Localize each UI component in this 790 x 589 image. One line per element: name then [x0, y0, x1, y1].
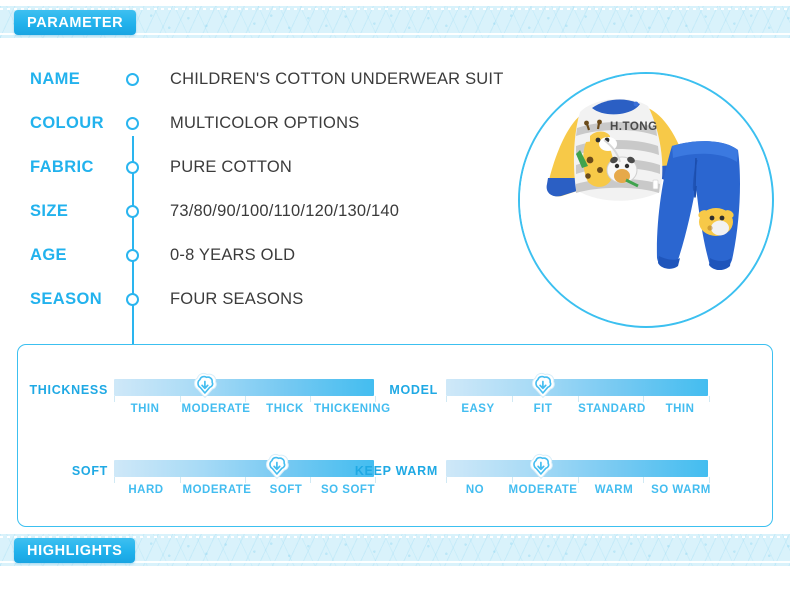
- scale-item[interactable]: THICK: [256, 403, 314, 415]
- scale-item[interactable]: FIT: [510, 403, 576, 415]
- scale-item[interactable]: EASY: [446, 403, 510, 415]
- spec-value-season: FOUR SEASONS: [170, 290, 304, 309]
- spec-row-size: SIZE 73/80/90/100/110/120/130/140: [0, 200, 520, 222]
- slider-track-keep-warm[interactable]: [446, 460, 708, 477]
- scale-item[interactable]: THIN: [648, 403, 712, 415]
- slider-thumb-model[interactable]: [531, 372, 556, 398]
- scale-item[interactable]: STANDARD: [576, 403, 648, 415]
- slider-scale-keep-warm: NO MODERATE WARM SO WARM: [446, 484, 716, 496]
- scale-item[interactable]: MODERATE: [176, 403, 256, 415]
- scale-item[interactable]: MODERATE: [504, 484, 582, 496]
- highlights-section-banner: HIGHLIGHTS: [0, 534, 790, 566]
- timeline-dot-icon: [126, 205, 139, 218]
- slider-ticks-soft: [114, 477, 376, 483]
- spec-row-age: AGE 0-8 YEARS OLD: [0, 244, 520, 266]
- spec-label-fabric: FABRIC: [30, 158, 126, 177]
- scale-item[interactable]: MODERATE: [178, 484, 256, 496]
- spec-value-colour: MULTICOLOR OPTIONS: [170, 114, 359, 133]
- scale-item[interactable]: THIN: [114, 403, 176, 415]
- spec-label-colour: COLOUR: [30, 114, 126, 133]
- slider-ticks-thickness: [114, 396, 376, 402]
- scale-item[interactable]: WARM: [582, 484, 646, 496]
- spec-row-name: NAME CHILDREN'S COTTON UNDERWEAR SUIT: [0, 68, 520, 90]
- spec-value-age: 0-8 YEARS OLD: [170, 246, 295, 265]
- scale-item[interactable]: SO SOFT: [316, 484, 380, 496]
- slider-thumb-soft[interactable]: [265, 453, 290, 479]
- slider-label-model: MODEL: [358, 383, 438, 397]
- slider-thumb-thickness[interactable]: [193, 372, 218, 398]
- slider-ticks-model: [446, 396, 710, 402]
- spec-row-fabric: FABRIC PURE COTTON: [0, 156, 520, 178]
- spec-label-size: SIZE: [30, 202, 126, 221]
- product-photo-illustration: H.TONG: [520, 74, 768, 322]
- scale-item[interactable]: NO: [446, 484, 504, 496]
- scale-item[interactable]: THICKENING: [314, 403, 390, 415]
- timeline-dot-icon: [126, 249, 139, 262]
- slider-track-thickness[interactable]: [114, 379, 374, 396]
- highlights-banner-label: HIGHLIGHTS: [14, 538, 135, 563]
- slider-label-keep-warm: KEEP WARM: [348, 464, 438, 478]
- product-photo: H.TONG: [518, 72, 774, 328]
- scale-item[interactable]: HARD: [114, 484, 178, 496]
- spec-value-name: CHILDREN'S COTTON UNDERWEAR SUIT: [170, 70, 503, 89]
- spec-label-season: SEASON: [30, 290, 126, 309]
- slider-scale-model: EASY FIT STANDARD THIN: [446, 403, 712, 415]
- specification-list: NAME CHILDREN'S COTTON UNDERWEAR SUIT CO…: [0, 52, 520, 322]
- timeline-dot-icon: [126, 161, 139, 174]
- svg-text:H.TONG: H.TONG: [610, 121, 658, 133]
- parameter-section-banner: PARAMETER: [0, 6, 790, 38]
- timeline-dot-icon: [126, 117, 139, 130]
- slider-scale-soft: HARD MODERATE SOFT SO SOFT: [114, 484, 380, 496]
- slider-thumb-keep-warm[interactable]: [529, 453, 554, 479]
- spec-row-season: SEASON FOUR SEASONS: [0, 288, 520, 310]
- slider-ticks-keep-warm: [446, 477, 710, 483]
- spec-label-age: AGE: [30, 246, 126, 265]
- timeline-dot-icon: [126, 73, 139, 86]
- spec-label-name: NAME: [30, 70, 126, 89]
- parameter-banner-label: PARAMETER: [14, 10, 136, 35]
- slider-label-thickness: THICKNESS: [24, 383, 108, 397]
- spec-row-colour: COLOUR MULTICOLOR OPTIONS: [0, 112, 520, 134]
- spec-value-size: 73/80/90/100/110/120/130/140: [170, 202, 399, 221]
- attribute-slider-panel: THICKNESS THIN MODERATE THICK THICKENING…: [17, 344, 773, 527]
- slider-scale-thickness: THIN MODERATE THICK THICKENING: [114, 403, 390, 415]
- spec-value-fabric: PURE COTTON: [170, 158, 292, 177]
- scale-item[interactable]: SO WARM: [646, 484, 716, 496]
- slider-label-soft: SOFT: [24, 464, 108, 478]
- timeline-dot-icon: [126, 293, 139, 306]
- slider-track-soft[interactable]: [114, 460, 374, 477]
- slider-track-model[interactable]: [446, 379, 708, 396]
- scale-item[interactable]: SOFT: [256, 484, 316, 496]
